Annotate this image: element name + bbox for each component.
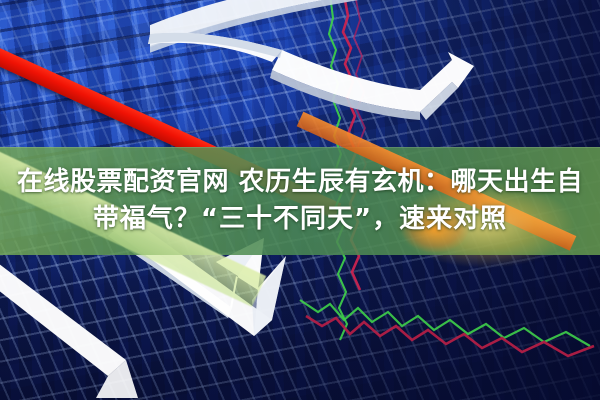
article-title: 在线股票配资官网 农历生辰有玄机：哪天出生自 带福气？“三十不同天”，速来对照 bbox=[0, 150, 600, 252]
title-line-1: 在线股票配资官网 农历生辰有玄机：哪天出生自 bbox=[17, 167, 583, 198]
title-line-2: 带福气？“三十不同天”，速来对照 bbox=[93, 204, 507, 235]
article-thumbnail-image: 在线股票配资官网 农历生辰有玄机：哪天出生自 带福气？“三十不同天”，速来对照 bbox=[0, 0, 600, 400]
